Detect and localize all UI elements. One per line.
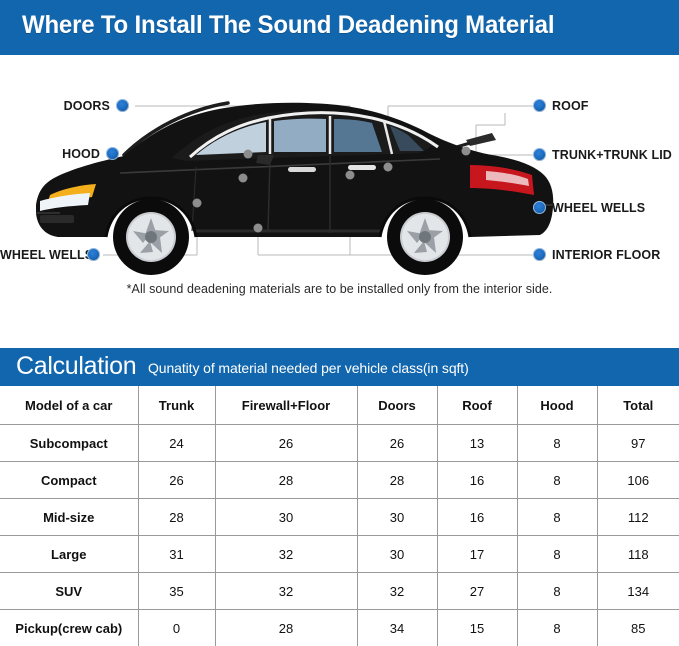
column-header-total: Total bbox=[597, 386, 679, 425]
column-header-doors: Doors bbox=[357, 386, 437, 425]
row-label: SUV bbox=[0, 573, 138, 610]
row-label: Pickup(crew cab) bbox=[0, 610, 138, 646]
column-header-model: Model of a car bbox=[0, 386, 138, 425]
cell-total: 106 bbox=[597, 462, 679, 499]
anchor-dot-interior-floor bbox=[254, 224, 263, 233]
anchor-dot-front-door bbox=[239, 174, 248, 183]
cell-trunk: 31 bbox=[138, 536, 215, 573]
anchor-dot-roof bbox=[384, 163, 393, 172]
table-row: Pickup(crew cab) 0 28 34 15 8 85 bbox=[0, 610, 679, 646]
trunk-marker-dot bbox=[533, 148, 546, 161]
cell-doors: 30 bbox=[357, 536, 437, 573]
anchor-dot-front-wheel-well bbox=[193, 199, 202, 208]
rear-hub bbox=[419, 231, 431, 243]
calculation-banner: Calculation Qunatity of material needed … bbox=[0, 348, 679, 386]
page-title: Where To Install The Sound Deadening Mat… bbox=[22, 11, 554, 40]
column-header-trunk: Trunk bbox=[138, 386, 215, 425]
cell-doors: 26 bbox=[357, 425, 437, 462]
cell-total: 118 bbox=[597, 536, 679, 573]
cell-firewall-floor: 26 bbox=[215, 425, 357, 462]
label-trunk-trunk-lid: TRUNK+TRUNK LID bbox=[552, 149, 672, 162]
cell-hood: 8 bbox=[517, 462, 597, 499]
rear-door-handle bbox=[348, 165, 376, 170]
row-label: Large bbox=[0, 536, 138, 573]
calculation-table-wrap: Model of a car Trunk Firewall+Floor Door… bbox=[0, 386, 679, 646]
row-label: Compact bbox=[0, 462, 138, 499]
cell-hood: 8 bbox=[517, 536, 597, 573]
table-row: Mid-size 28 30 30 16 8 112 bbox=[0, 499, 679, 536]
cell-total: 134 bbox=[597, 573, 679, 610]
car-diagram-section: DOORS HOOD WHEEL WELLS ROOF TRUNK+TRUNK … bbox=[0, 55, 679, 340]
cell-firewall-floor: 30 bbox=[215, 499, 357, 536]
cell-roof: 15 bbox=[437, 610, 517, 646]
roof-marker-dot bbox=[533, 99, 546, 112]
open-trunk-lid bbox=[466, 133, 496, 146]
table-row: SUV 35 32 32 27 8 134 bbox=[0, 573, 679, 610]
row-label: Mid-size bbox=[0, 499, 138, 536]
front-door-handle bbox=[288, 167, 316, 172]
table-row: Compact 26 28 28 16 8 106 bbox=[0, 462, 679, 499]
interior-floor-marker-dot bbox=[533, 248, 546, 261]
cell-doors: 30 bbox=[357, 499, 437, 536]
table-row: Subcompact 24 26 26 13 8 97 bbox=[0, 425, 679, 462]
front-bumper-vent bbox=[40, 215, 74, 223]
cell-hood: 8 bbox=[517, 425, 597, 462]
label-doors: DOORS bbox=[0, 100, 110, 113]
wheel-wells-left-marker-dot bbox=[87, 248, 100, 261]
cell-doors: 28 bbox=[357, 462, 437, 499]
column-header-firewall-floor: Firewall+Floor bbox=[215, 386, 357, 425]
cell-hood: 8 bbox=[517, 610, 597, 646]
car-illustration bbox=[0, 55, 679, 340]
cell-trunk: 24 bbox=[138, 425, 215, 462]
cell-roof: 17 bbox=[437, 536, 517, 573]
anchor-dot-rear-door bbox=[346, 171, 355, 180]
cell-total: 112 bbox=[597, 499, 679, 536]
cell-firewall-floor: 28 bbox=[215, 462, 357, 499]
table-row: Large 31 32 30 17 8 118 bbox=[0, 536, 679, 573]
cell-trunk: 28 bbox=[138, 499, 215, 536]
calculation-table: Model of a car Trunk Firewall+Floor Door… bbox=[0, 386, 679, 646]
hood-marker-dot bbox=[106, 147, 119, 160]
label-interior-floor: INTERIOR FLOOR bbox=[552, 249, 660, 262]
diagram-footnote: *All sound deadening materials are to be… bbox=[0, 282, 679, 296]
cell-firewall-floor: 32 bbox=[215, 536, 357, 573]
cell-hood: 8 bbox=[517, 573, 597, 610]
cell-hood: 8 bbox=[517, 499, 597, 536]
cell-trunk: 35 bbox=[138, 573, 215, 610]
cell-roof: 16 bbox=[437, 499, 517, 536]
label-wheel-wells-left: WHEEL WELLS bbox=[0, 249, 82, 262]
column-header-roof: Roof bbox=[437, 386, 517, 425]
cell-total: 97 bbox=[597, 425, 679, 462]
cell-firewall-floor: 32 bbox=[215, 573, 357, 610]
cell-doors: 34 bbox=[357, 610, 437, 646]
column-header-hood: Hood bbox=[517, 386, 597, 425]
cell-roof: 16 bbox=[437, 462, 517, 499]
label-roof: ROOF bbox=[552, 100, 589, 113]
calculation-title: Calculation bbox=[16, 352, 136, 381]
label-hood: HOOD bbox=[0, 148, 100, 161]
cell-firewall-floor: 28 bbox=[215, 610, 357, 646]
cell-trunk: 26 bbox=[138, 462, 215, 499]
wheel-wells-right-marker-dot bbox=[533, 201, 546, 214]
cell-trunk: 0 bbox=[138, 610, 215, 646]
cell-roof: 13 bbox=[437, 425, 517, 462]
front-hub bbox=[145, 231, 157, 243]
page-header-banner: Where To Install The Sound Deadening Mat… bbox=[0, 0, 679, 55]
cell-doors: 32 bbox=[357, 573, 437, 610]
doors-marker-dot bbox=[116, 99, 129, 112]
cell-total: 85 bbox=[597, 610, 679, 646]
table-header-row: Model of a car Trunk Firewall+Floor Door… bbox=[0, 386, 679, 425]
cell-roof: 27 bbox=[437, 573, 517, 610]
calculation-subtitle: Qunatity of material needed per vehicle … bbox=[148, 360, 469, 376]
row-label: Subcompact bbox=[0, 425, 138, 462]
label-wheel-wells-right: WHEEL WELLS bbox=[552, 202, 645, 215]
front-door-glass bbox=[274, 119, 326, 152]
anchor-dot-trunk bbox=[462, 147, 471, 156]
anchor-dot-hood bbox=[244, 150, 253, 159]
